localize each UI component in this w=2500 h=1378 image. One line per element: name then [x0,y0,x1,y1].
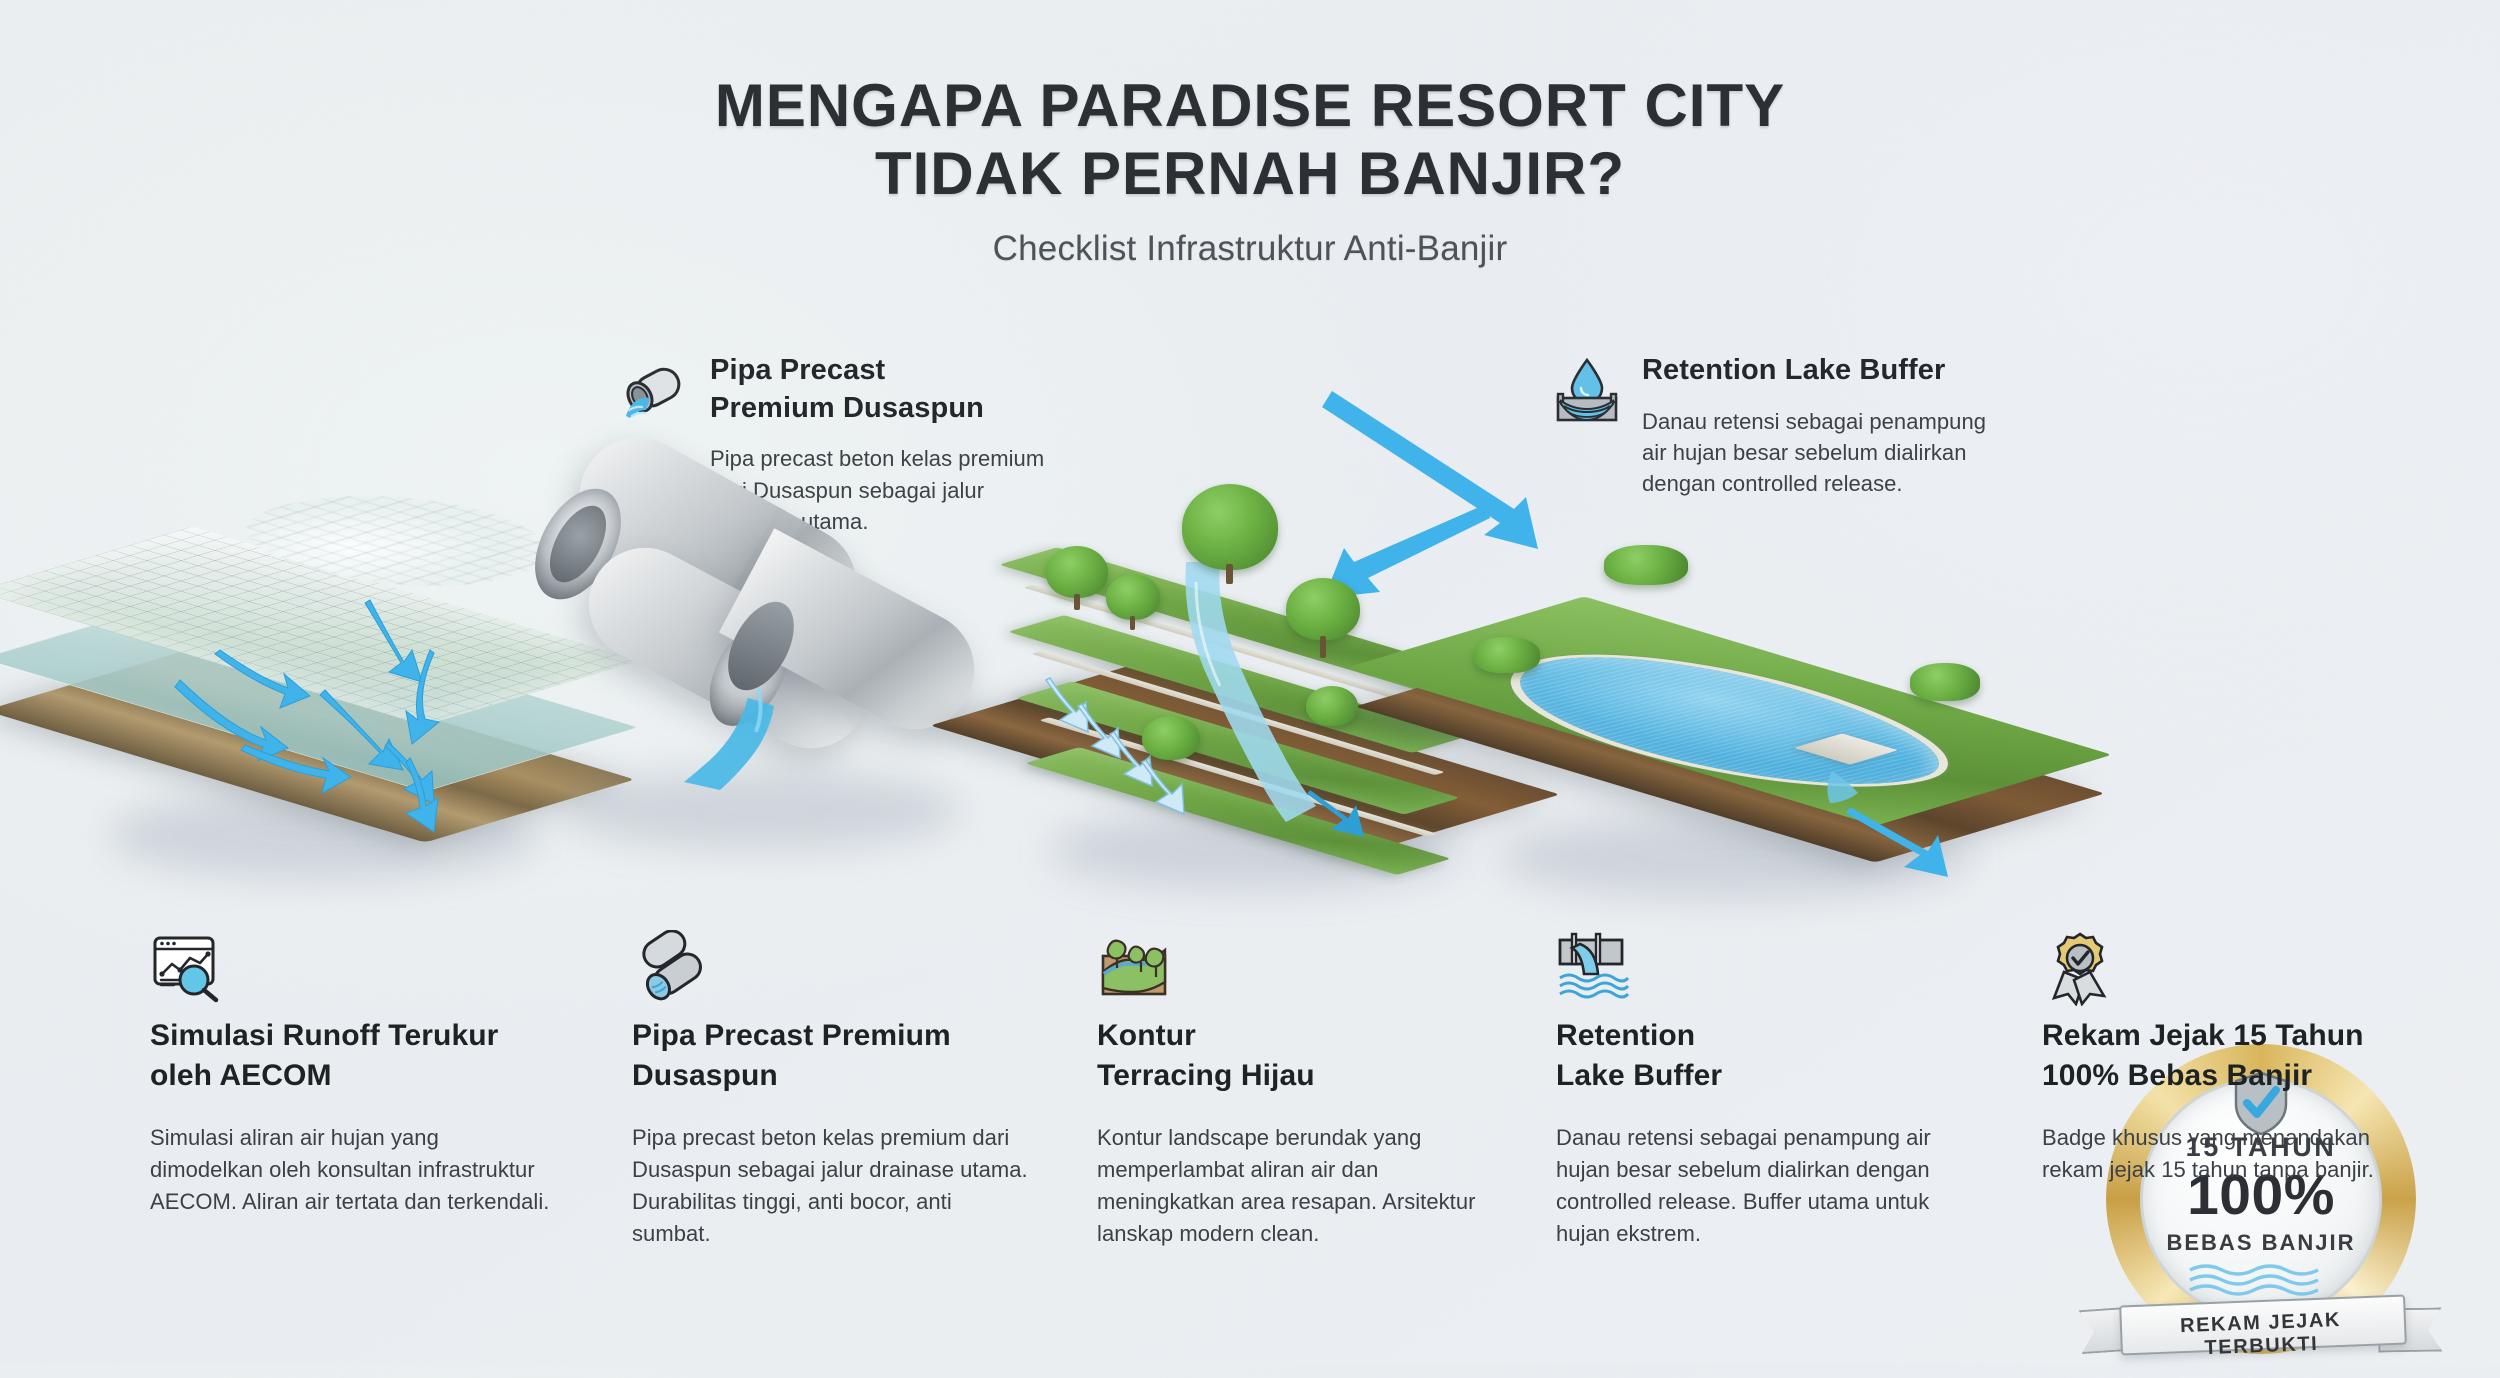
feature-title-4-line-1: Rekam Jejak 15 Tahun [2042,1019,2364,1052]
feature-title-3-line-1: Retention [1556,1019,1695,1052]
terrain-runoff-mesh-block [70,490,570,890]
feature-column-kontur-terracing: Kontur Terracing Hijau Kontur landscape … [1097,930,1497,1250]
feature-body-4: Badge khusus yang menandakan rekam jejak… [2042,1122,2432,1186]
feature-title-2-line-2: Terracing Hijau [1097,1059,1315,1092]
feature-column-pipa-precast: Pipa Precast Premium Dusaspun Pipa preca… [632,930,1032,1250]
chart-magnifier-icon [150,930,550,1016]
callout-lake-title: Retention Lake Buffer [1642,352,2002,390]
feature-column-simulasi-runoff: Simulasi Runoff Terukur oleh AECOM Simul… [150,930,550,1218]
precast-concrete-pipes-block [520,440,990,910]
precast-pipes-icon [632,930,1032,1016]
retention-lake-block [1440,485,2040,915]
feature-title-2: Kontur Terracing Hijau [1097,1016,1497,1096]
feature-columns: Simulasi Runoff Terukur oleh AECOM Simul… [0,930,2500,1350]
feature-body-3: Danau retensi sebagai penampung air huja… [1556,1122,1956,1250]
page-header: MENGAPA PARADISE RESORT CITY TIDAK PERNA… [0,72,2500,269]
feature-column-rekam-jejak: Rekam Jejak 15 Tahun 100% Bebas Banjir B… [2042,930,2432,1186]
callout-pipe-title: Pipa Precast Premium Dusaspun [710,352,1050,427]
terraced-hillside-icon [1097,930,1497,1016]
illustration-scene: 15 TAHUN 100% BEBAS BANJIR REKAM JEJAK T… [0,430,2500,950]
feature-title-4-line-2: 100% Bebas Banjir [2042,1059,2312,1092]
dam-spillway-icon [1556,930,1956,1016]
feature-body-2: Kontur landscape berundak yang memperlam… [1097,1122,1497,1250]
callout-pipe-title-line-2: Premium Dusaspun [710,392,984,424]
feature-title-1: Pipa Precast Premium Dusaspun [632,1016,1032,1096]
feature-title-3: Retention Lake Buffer [1556,1016,1956,1096]
feature-title-0: Simulasi Runoff Terukur oleh AECOM [150,1016,550,1096]
page-title-line-1: MENGAPA PARADISE RESORT CITY [0,72,2500,140]
feature-body-1: Pipa precast beton kelas premium dari Du… [632,1122,1032,1250]
feature-title-2-line-1: Kontur [1097,1019,1196,1052]
callout-pipe-title-line-1: Pipa Precast [710,354,885,386]
feature-title-0-line-2: oleh AECOM [150,1059,332,1092]
page-subtitle: Checklist Infrastruktur Anti-Banjir [0,229,2500,269]
feature-title-0-line-1: Simulasi Runoff Terukur [150,1019,498,1052]
award-ribbon-icon [2042,930,2432,1016]
feature-title-3-line-2: Lake Buffer [1556,1059,1722,1092]
pipe-water-discharge [520,440,990,910]
feature-title-4: Rekam Jejak 15 Tahun 100% Bebas Banjir [2042,1016,2432,1096]
feature-title-1-line-2: Dusaspun [632,1059,778,1092]
feature-title-1-line-1: Pipa Precast Premium [632,1019,951,1052]
infographic-canvas: MENGAPA PARADISE RESORT CITY TIDAK PERNA… [0,0,2500,1364]
pipe-water-icon [620,354,690,429]
runoff-flow-arrows [70,490,570,890]
feature-body-0: Simulasi aliran air hujan yang dimodelka… [150,1122,550,1218]
page-title-line-2: TIDAK PERNAH BANJIR? [0,140,2500,208]
feature-column-retention-lake: Retention Lake Buffer Danau retensi seba… [1556,930,1956,1250]
water-drop-basin-icon [1552,354,1622,429]
